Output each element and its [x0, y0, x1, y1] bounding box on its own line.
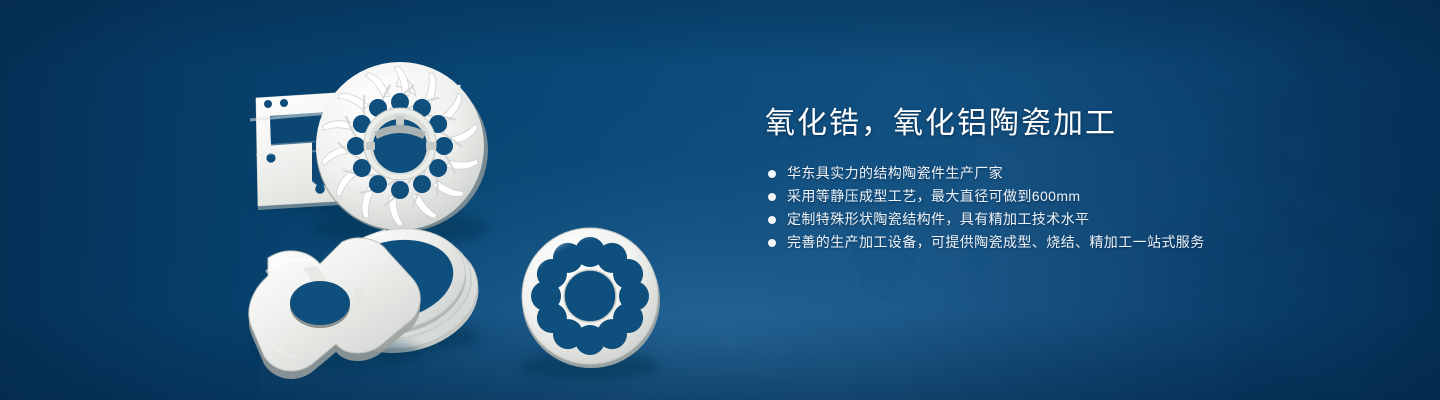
feature-list: 华东具实力的结构陶瓷件生产厂家 采用等静压成型工艺，最大直径可做到600mm 定…: [765, 162, 1385, 254]
banner-copy: 氧化锆，氧化铝陶瓷加工 华东具实力的结构陶瓷件生产厂家 采用等静压成型工艺，最大…: [765, 104, 1385, 254]
bullet-dot-icon: [768, 170, 776, 178]
bullet-dot-icon: [768, 193, 776, 201]
page-title: 氧化锆，氧化铝陶瓷加工: [765, 104, 1385, 144]
list-item-label: 采用等静压成型工艺，最大直径可做到600mm: [787, 185, 1080, 208]
list-item-label: 定制特殊形状陶瓷结构件，具有精加工技术水平: [787, 208, 1089, 231]
list-item: 完善的生产加工设备，可提供陶瓷成型、烧结、精加工一站式服务: [765, 231, 1385, 254]
list-item-label: 华东具实力的结构陶瓷件生产厂家: [787, 162, 1003, 185]
list-item: 定制特殊形状陶瓷结构件，具有精加工技术水平: [765, 208, 1385, 231]
list-item: 华东具实力的结构陶瓷件生产厂家: [765, 162, 1385, 185]
bullet-dot-icon: [768, 216, 776, 224]
list-item-label: 完善的生产加工设备，可提供陶瓷成型、烧结、精加工一站式服务: [787, 231, 1205, 254]
hero-banner: 氧化锆，氧化铝陶瓷加工 华东具实力的结构陶瓷件生产厂家 采用等静压成型工艺，最大…: [0, 0, 1440, 400]
list-item: 采用等静压成型工艺，最大直径可做到600mm: [765, 185, 1385, 208]
bullet-dot-icon: [768, 239, 776, 247]
